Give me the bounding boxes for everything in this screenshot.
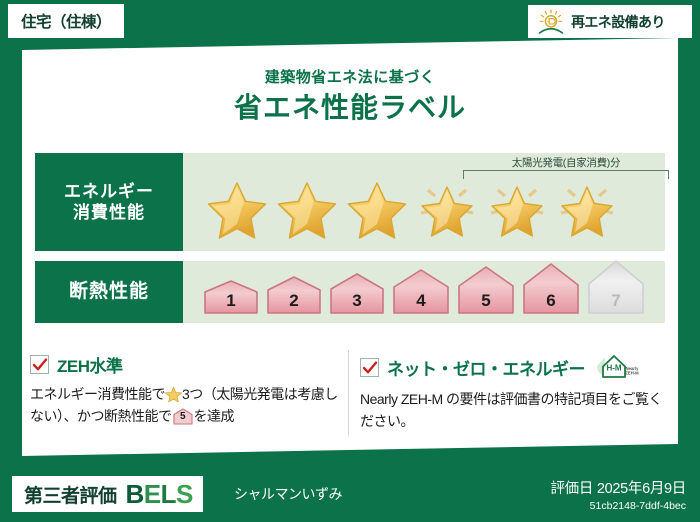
insulation-house-1: 1 [201, 279, 261, 317]
star-2 [275, 177, 339, 239]
solar-contribution-note: 太陽光発電(自家消費)分 [461, 155, 671, 170]
energy-performance-label: エネルギー 消費性能 [35, 153, 183, 251]
insulation-house-7: 7 [585, 259, 647, 317]
renewable-badge-label: 再エネ設備あり [571, 12, 665, 32]
energy-performance-row: エネルギー 消費性能 太陽光発電(自家消費)分 [35, 153, 665, 251]
footer-evaluation-date: 評価日 2025年6月9日 [550, 477, 686, 498]
energy-label-line2: 消費性能 [73, 202, 145, 223]
bels-letter-l: L [161, 479, 176, 509]
footer-building-name: シャルマンいずみ [234, 476, 342, 512]
footer-evaluation-label: 第三者評価 [24, 481, 117, 508]
insulation-house-6: 6 [520, 262, 582, 317]
inline-house-number: 5 [172, 409, 194, 425]
footer-bels-plate: 第三者評価 BELS [12, 476, 203, 512]
criteria-zeh-header: ZEH水準 [30, 352, 340, 377]
energy-label-line1: エネルギー [64, 181, 154, 202]
insulation-house-3: 3 [327, 272, 387, 317]
insulation-label-text: 断熱性能 [69, 280, 149, 304]
insulation-house-4-number: 4 [390, 291, 452, 311]
insulation-house-2-number: 2 [264, 291, 324, 311]
bels-letter-b: B [126, 479, 144, 509]
check-icon-zeh [30, 355, 49, 374]
insulation-house-5-number: 5 [455, 291, 517, 311]
insulation-house-7-number: 7 [585, 291, 647, 311]
criteria-zeh-body: エネルギー消費性能で3つ（太陽光発電は考慮しない）、かつ断熱性能で5を達成 [30, 383, 340, 427]
insulation-performance-row: 断熱性能 1 [35, 261, 665, 323]
criteria-divider [348, 350, 349, 436]
star-5-solar [485, 177, 549, 239]
insulation-house-3-number: 3 [327, 291, 387, 311]
insulation-house-2: 2 [264, 275, 324, 317]
renewable-equipment-badge: 再エネ設備あり [528, 5, 692, 38]
footer-date-value: 2025年6月9日 [597, 481, 686, 497]
insulation-house-1-number: 1 [201, 291, 261, 311]
insulation-house-4: 4 [390, 268, 452, 317]
inline-house-icon: 5 [172, 408, 194, 425]
footer-evaluation-info: 評価日 2025年6月9日 51cb2148-7ddf-4bec [550, 476, 686, 512]
criteria-zeh-standard: ZEH水準 エネルギー消費性能で3つ（太陽光発電は考慮しない）、かつ断熱性能で5… [30, 352, 340, 427]
bels-letter-e: E [144, 479, 161, 509]
star-6-solar [555, 177, 619, 239]
criteria-net-zero-energy: ネット・ゼロ・エネルギー H-M Nearly ZEH-M Nearly ZEH… [360, 352, 666, 432]
label-title: 省エネ性能ラベル [0, 86, 700, 126]
energy-performance-body: 太陽光発電(自家消費)分 [183, 153, 665, 251]
criteria-nze-body: Nearly ZEH-M の要件は評価書の特記項目をご覧ください。 [360, 388, 666, 432]
footer-date-label: 評価日 [550, 481, 593, 497]
star-3 [345, 177, 409, 239]
criteria-zeh-body-pre: エネルギー消費性能で [30, 386, 165, 402]
criteria-nze-title: ネット・ゼロ・エネルギー [387, 355, 585, 380]
insulation-house-5: 5 [455, 265, 517, 317]
document-type-label: 住宅（住棟） [21, 10, 111, 32]
criteria-zeh-title: ZEH水準 [57, 352, 123, 377]
check-icon-net-zero [360, 358, 379, 377]
bels-letter-s: S [176, 479, 193, 509]
insulation-house-6-number: 6 [520, 291, 582, 311]
criteria-nze-header: ネット・ゼロ・エネルギー H-M Nearly ZEH-M [360, 352, 666, 382]
energy-star-rating [205, 177, 619, 239]
insulation-level-scale: 1 2 3 4 [201, 259, 647, 317]
star-1 [205, 177, 269, 239]
footer-document-id: 51cb2148-7ddf-4bec [590, 500, 686, 512]
svg-text:ZEH-M: ZEH-M [625, 371, 639, 376]
insulation-performance-body: 1 2 3 4 [183, 261, 665, 323]
star-4-solar [415, 177, 479, 239]
sun-eco-icon [536, 9, 566, 35]
bels-logo: BELS [126, 479, 193, 510]
svg-text:H-M: H-M [606, 364, 621, 373]
label-subtitle: 建築物省エネ法に基づく [0, 66, 700, 87]
insulation-performance-label: 断熱性能 [35, 261, 183, 323]
inline-star-icon [165, 386, 182, 402]
zeh-m-house-logo: H-M Nearly ZEH-M [593, 352, 639, 382]
document-type-tab: 住宅（住棟） [8, 4, 124, 38]
energy-label-root: 住宅（住棟） 再エネ設備あり 建築物省エネ法に基づく 省エ [0, 0, 700, 522]
criteria-zeh-body-post: を達成 [194, 408, 235, 424]
